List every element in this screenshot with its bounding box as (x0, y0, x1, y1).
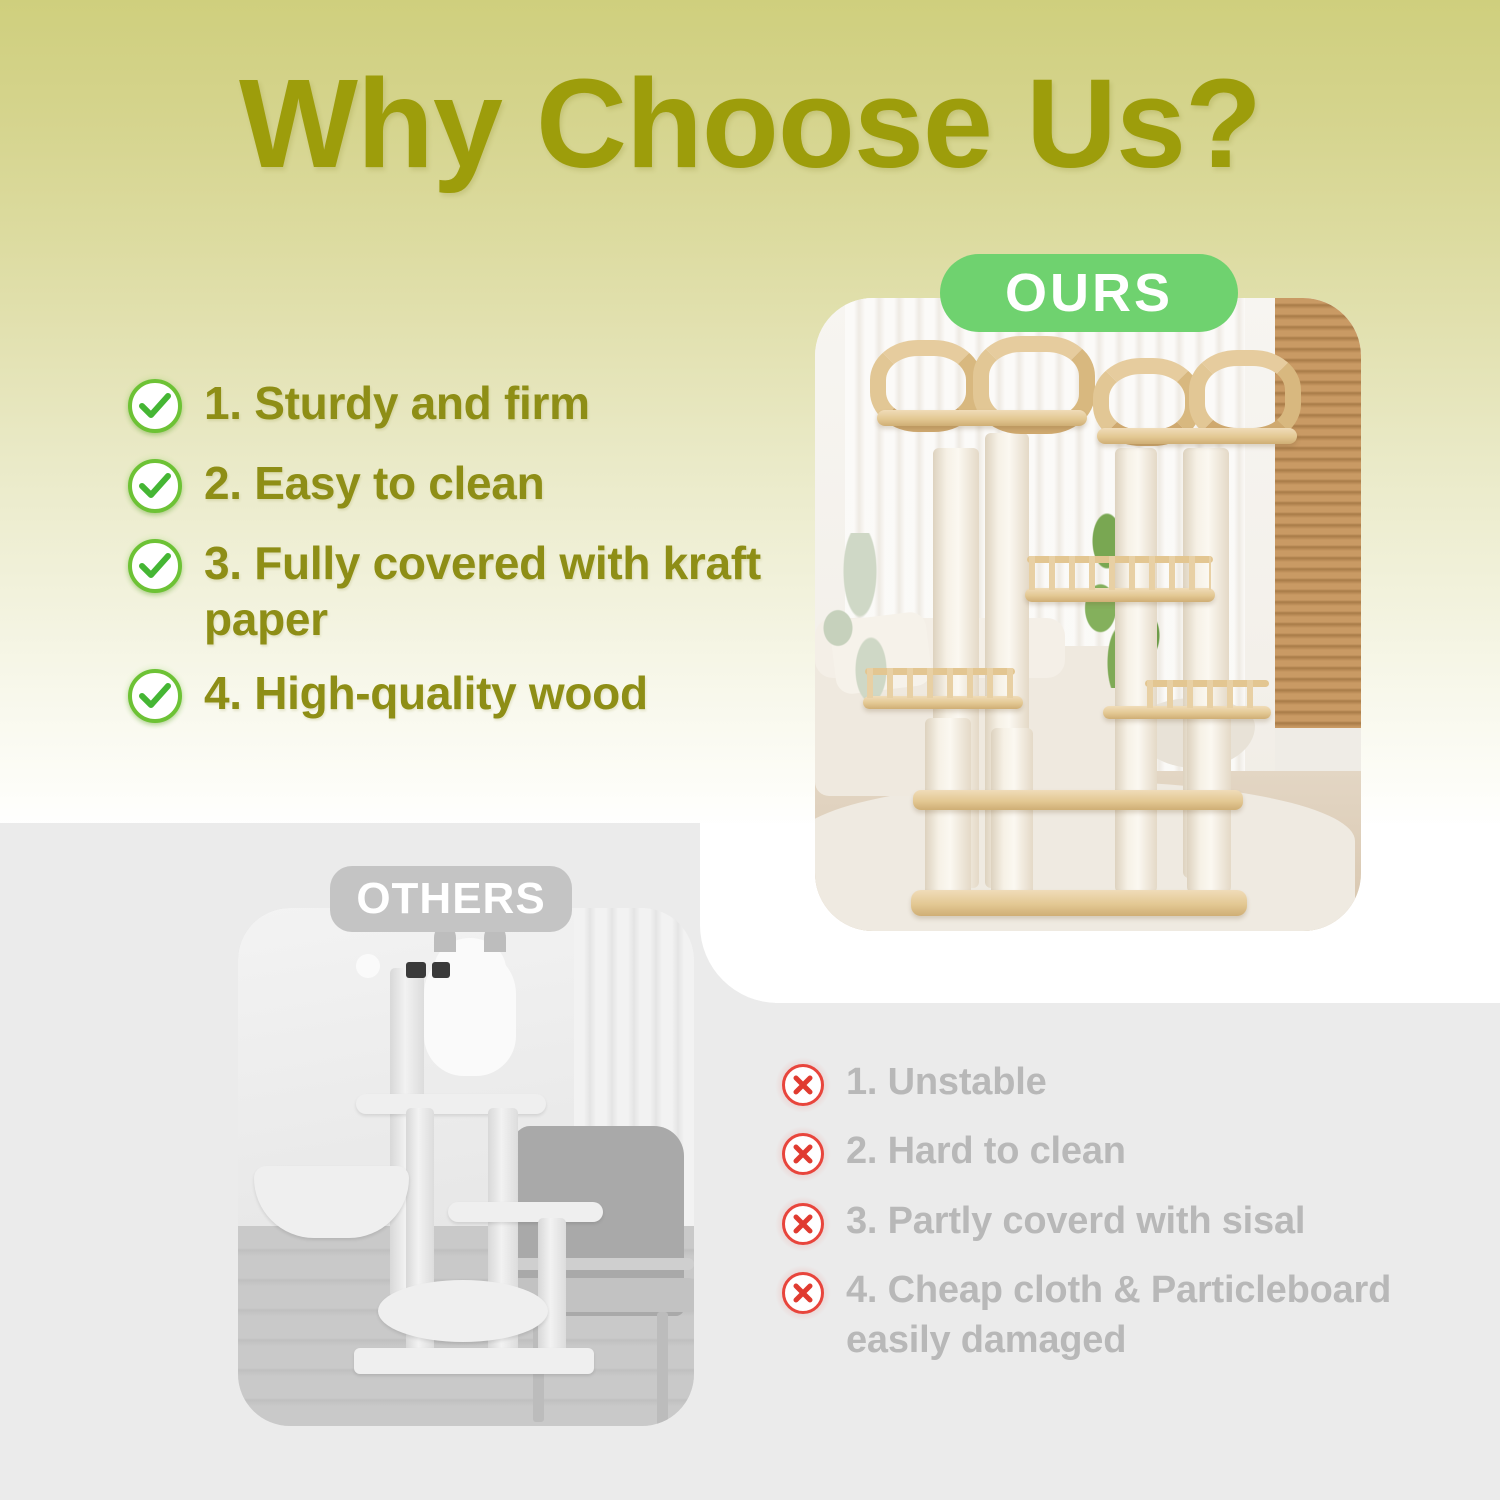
ours-benefits-list: 1. Sturdy and firm 2. Easy to clean 3. F… (128, 375, 768, 745)
check-circle-icon (128, 379, 182, 433)
list-item: 3. Fully covered with kraft paper (128, 535, 768, 647)
infographic-page: Why Choose Us? (0, 0, 1500, 1500)
list-item: 2. Easy to clean (128, 455, 768, 513)
others-drawbacks-list: 1. Unstable 2. Hard to clean 3. Partly c… (782, 1058, 1472, 1385)
cross-circle-icon (782, 1064, 824, 1106)
list-item-label: 2. Hard to clean (846, 1127, 1126, 1176)
list-item: 4. Cheap cloth & Particleboard easily da… (782, 1266, 1472, 1365)
cross-circle-icon (782, 1203, 824, 1245)
others-product-photo (238, 908, 694, 1426)
check-circle-icon (128, 539, 182, 593)
ours-product-photo (815, 298, 1361, 931)
list-item: 1. Sturdy and firm (128, 375, 768, 433)
others-scene (238, 908, 694, 1426)
ours-badge: OURS (940, 254, 1238, 332)
list-item-label: 1. Unstable (846, 1058, 1047, 1107)
cross-circle-icon (782, 1133, 824, 1175)
check-circle-icon (128, 669, 182, 723)
list-item-label: 3. Partly coverd with sisal (846, 1197, 1305, 1246)
list-item-label: 2. Easy to clean (204, 455, 544, 511)
list-item-label: 1. Sturdy and firm (204, 375, 590, 431)
page-title: Why Choose Us? (0, 58, 1500, 190)
list-item: 2. Hard to clean (782, 1127, 1472, 1176)
list-item: 1. Unstable (782, 1058, 1472, 1107)
list-item: 3. Partly coverd with sisal (782, 1197, 1472, 1246)
list-item-label: 4. High-quality wood (204, 665, 648, 721)
cross-circle-icon (782, 1272, 824, 1314)
list-item-label: 4. Cheap cloth & Particleboard easily da… (846, 1266, 1472, 1365)
check-circle-icon (128, 459, 182, 513)
list-item-label: 3. Fully covered with kraft paper (204, 535, 768, 647)
list-item: 4. High-quality wood (128, 665, 768, 723)
ours-scene (815, 298, 1361, 931)
others-badge: OTHERS (330, 866, 572, 932)
